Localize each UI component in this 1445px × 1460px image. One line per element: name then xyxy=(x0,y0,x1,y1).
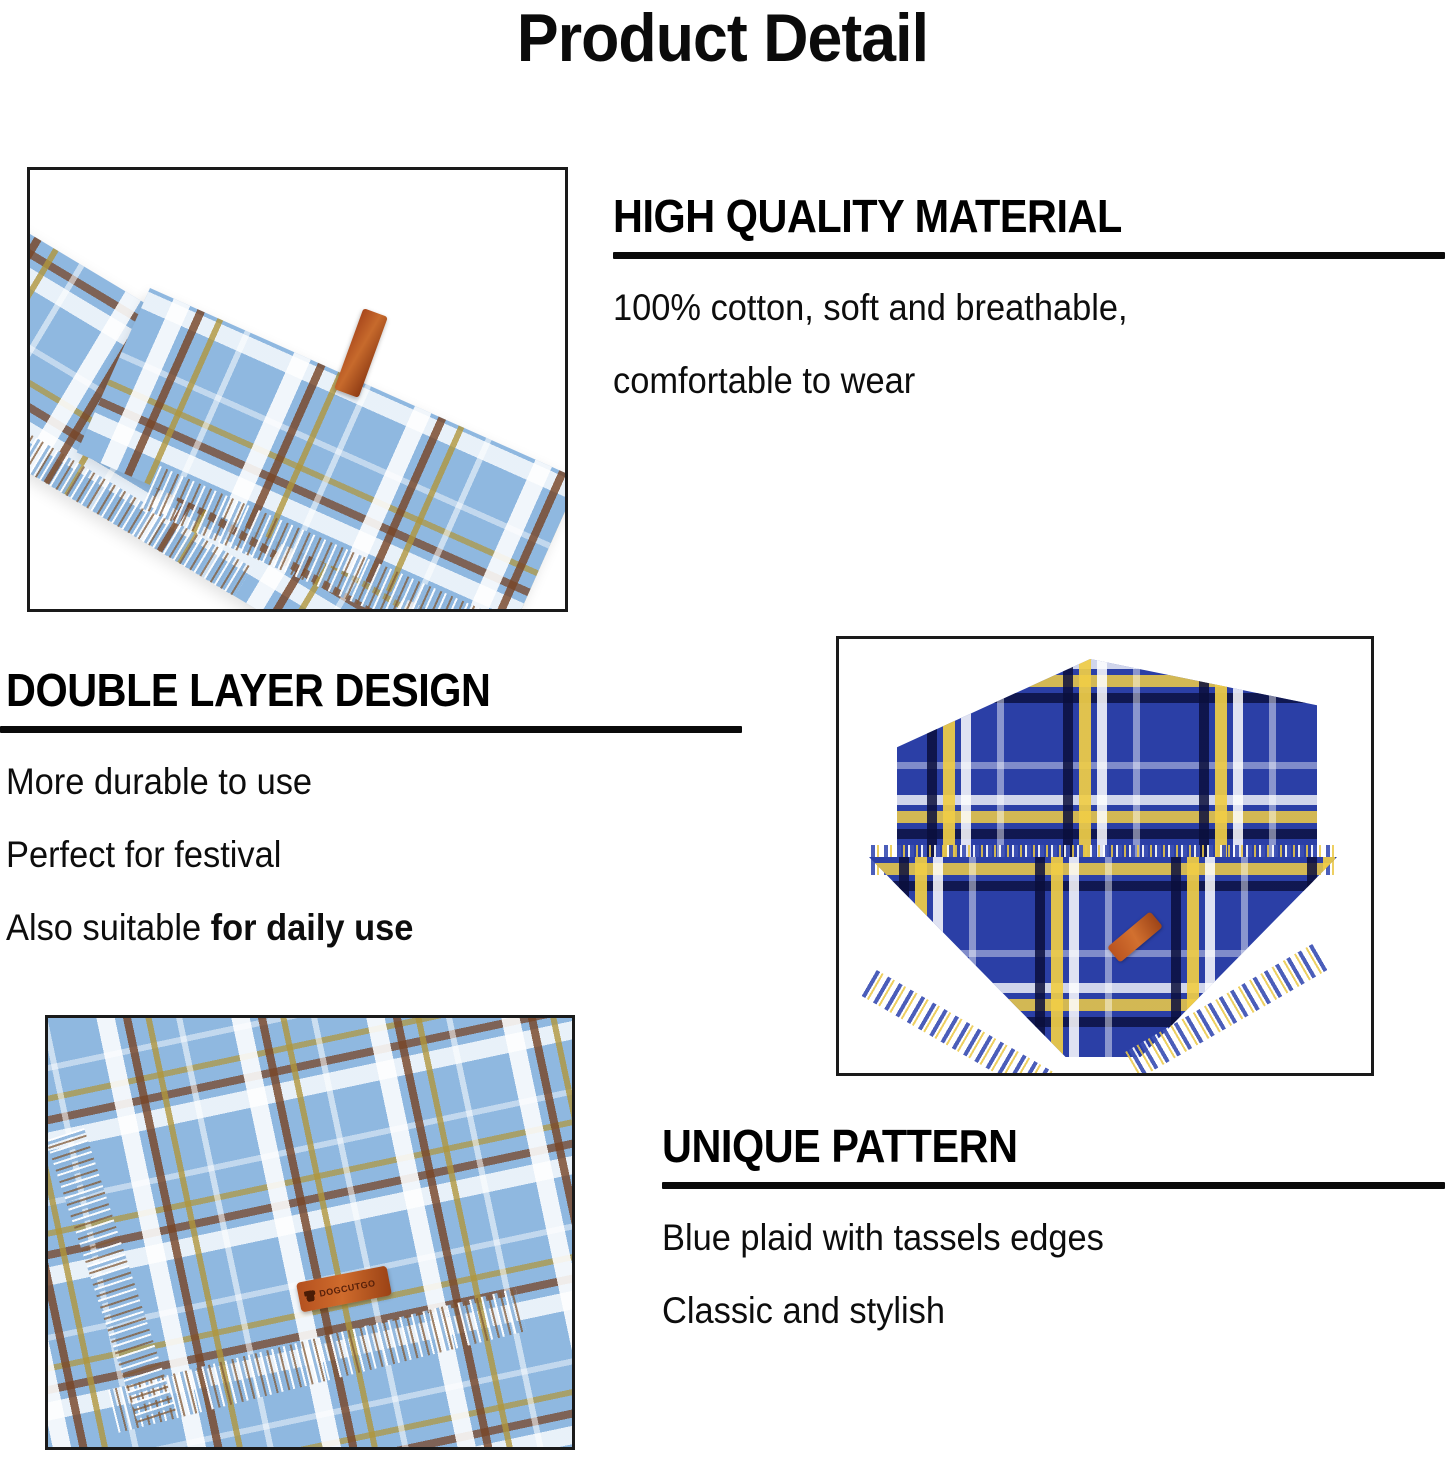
feature-line: Perfect for festival xyxy=(6,836,690,873)
feature-double-layer-design: DOUBLE LAYER DESIGN More durable to use … xyxy=(0,666,742,946)
product-photo-double-layer-design: DOGCUTGO xyxy=(45,1015,575,1450)
feature-line: Also suitable for daily use xyxy=(6,909,690,946)
feature-line-emphasis: for daily use xyxy=(211,907,414,948)
feature-line-text: Also suitable xyxy=(6,907,211,948)
product-photo-unique-pattern xyxy=(836,636,1374,1076)
brand-tag-text: DOGCUTGO xyxy=(319,1278,377,1299)
page-title: Product Detail xyxy=(58,2,1387,75)
feature-line: comfortable to wear xyxy=(613,362,1387,399)
feature-line: 100% cotton, soft and breathable, xyxy=(613,289,1387,326)
photo-canvas xyxy=(839,639,1371,1073)
heading-divider xyxy=(613,252,1445,259)
feature-heading: DOUBLE LAYER DESIGN xyxy=(6,666,668,714)
feature-heading: UNIQUE PATTERN xyxy=(662,1122,1367,1170)
feature-line: More durable to use xyxy=(6,763,690,800)
feature-body: More durable to use Perfect for festival… xyxy=(6,763,742,946)
feature-line: Classic and stylish xyxy=(662,1292,1390,1329)
photo-canvas xyxy=(30,170,565,609)
feature-body: Blue plaid with tassels edges Classic an… xyxy=(662,1219,1445,1329)
leather-tab xyxy=(334,308,388,398)
feature-high-quality-material: HIGH QUALITY MATERIAL 100% cotton, soft … xyxy=(613,192,1445,399)
heading-divider xyxy=(662,1182,1445,1189)
feature-body: 100% cotton, soft and breathable, comfor… xyxy=(613,289,1445,399)
feature-unique-pattern: UNIQUE PATTERN Blue plaid with tassels e… xyxy=(662,1122,1445,1329)
paw-print-icon xyxy=(304,1289,317,1302)
bandana-top-fold xyxy=(897,659,1317,869)
heading-divider xyxy=(0,726,742,733)
product-detail-page: Product Detail HIGH QUALITY MATERIAL 100… xyxy=(0,0,1445,1460)
feature-heading: HIGH QUALITY MATERIAL xyxy=(613,192,1362,240)
photo-canvas: DOGCUTGO xyxy=(48,1018,572,1447)
feature-line: Blue plaid with tassels edges xyxy=(662,1219,1390,1256)
product-photo-high-quality-material xyxy=(27,167,568,612)
